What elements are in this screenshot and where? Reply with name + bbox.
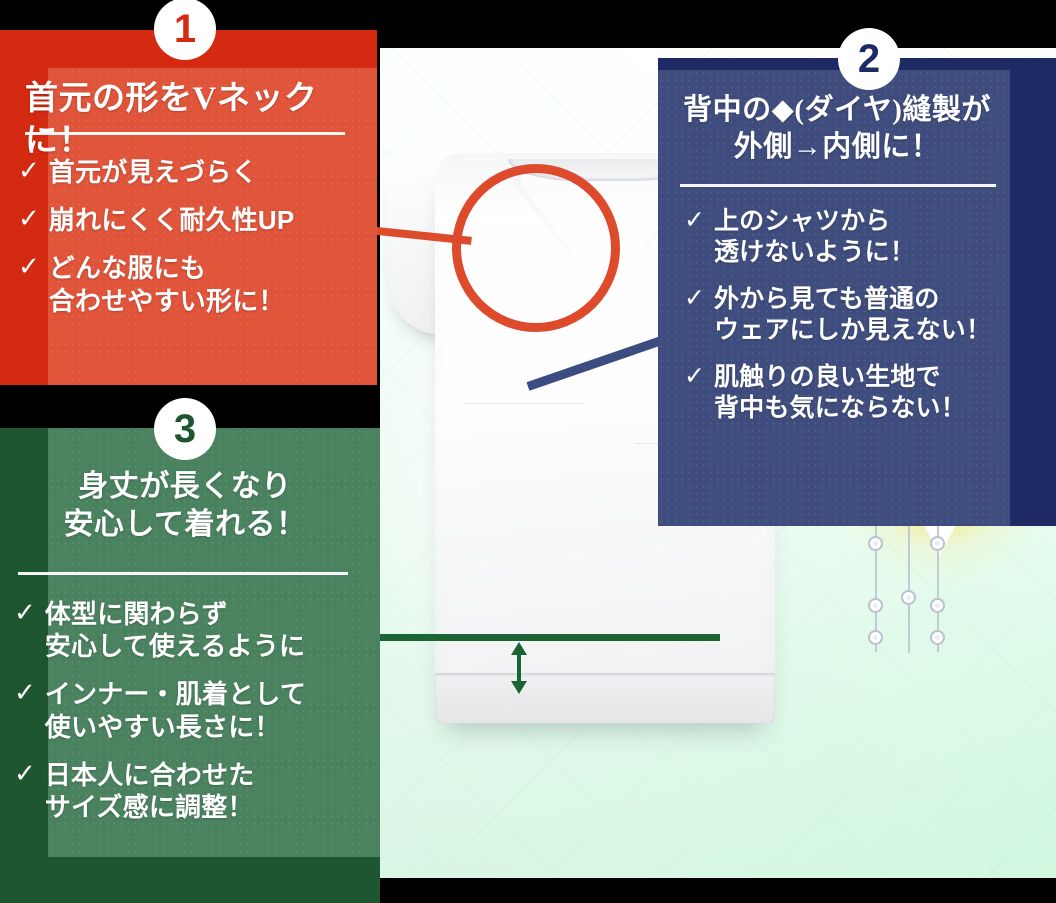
list-item-label: 日本人に合わせた サイズ感に調整！	[45, 759, 255, 823]
list-item: ✓ どんな服にも 合わせやすい形に！	[18, 252, 368, 316]
fabric-fold	[465, 403, 585, 404]
list-item-label: 肌触りの良い生地で 背中も気にならない！	[714, 362, 966, 424]
panel-3-number-badge: 3	[154, 398, 216, 460]
panel-1-divider	[25, 132, 345, 135]
list-item: ✓ 日本人に合わせた サイズ感に調整！	[14, 759, 374, 823]
panel-2-number-badge: 2	[838, 28, 900, 90]
panel-1-title: 首元の形をVネックに！	[25, 78, 377, 162]
check-icon: ✓	[684, 362, 705, 390]
panel-2-benefit-list: ✓ 上のシャツから 透けないように！ ✓ 外から見ても普通の ウェアにしか見えな…	[684, 206, 1024, 440]
tshirt-hem	[435, 673, 775, 723]
list-item: ✓ 首元が見えづらく	[18, 156, 368, 188]
feature-panel-1: 1 首元の形をVネックに！ ✓ 首元が見えづらく ✓ 崩れにくく耐久性UP ✓ …	[0, 30, 377, 385]
list-item-label: 首元が見えづらく	[49, 156, 258, 188]
panel-3-divider	[18, 572, 348, 575]
panel-2-title: 背中の◆(ダイヤ)縫製が 外側→内側に！	[674, 92, 1000, 166]
feature-panel-2: 2 背中の◆(ダイヤ)縫製が 外側→内側に！ ✓ 上のシャツから 透けないように…	[658, 58, 1056, 526]
check-icon: ✓	[14, 598, 36, 627]
list-item: ✓ 上のシャツから 透けないように！	[684, 206, 1024, 268]
list-item-label: どんな服にも 合わせやすい形に！	[49, 252, 285, 316]
list-item-label: 体型に関わらず 安心して使えるように	[45, 598, 305, 662]
list-item: ✓ 肌触りの良い生地で 背中も気にならない！	[684, 362, 1024, 424]
check-icon: ✓	[684, 206, 705, 234]
panel-2-divider	[680, 184, 996, 187]
list-item-label: インナー・肌着として 使いやすい長さに！	[45, 678, 306, 742]
list-item: ✓ 崩れにくく耐久性UP	[18, 204, 368, 236]
neck-highlight-circle	[452, 164, 620, 332]
list-item: ✓ 体型に関わらず 安心して使えるように	[14, 598, 374, 662]
check-icon: ✓	[684, 284, 705, 312]
list-item-label: 上のシャツから 透けないように！	[714, 206, 915, 268]
list-item-label: 外から見ても普通の ウェアにしか見えない！	[714, 284, 991, 346]
panel-1-number-badge: 1	[154, 0, 216, 60]
check-icon: ✓	[18, 252, 40, 281]
list-item-label: 崩れにくく耐久性UP	[49, 204, 295, 236]
panel-3-title: 身丈が長くなり 安心して着れる！	[20, 468, 350, 545]
check-icon: ✓	[18, 156, 40, 185]
list-item: ✓ 外から見ても普通の ウェアにしか見えない！	[684, 284, 1024, 346]
panel-1-benefit-list: ✓ 首元が見えづらく ✓ 崩れにくく耐久性UP ✓ どんな服にも 合わせやすい形…	[18, 156, 368, 333]
panel-3-benefit-list: ✓ 体型に関わらず 安心して使えるように ✓ インナー・肌着として 使いやすい長…	[14, 598, 374, 839]
check-icon: ✓	[18, 204, 40, 233]
check-icon: ✓	[14, 759, 36, 788]
hem-length-reference-line	[380, 634, 720, 641]
list-item: ✓ インナー・肌着として 使いやすい長さに！	[14, 678, 374, 742]
feature-panel-3: 3 身丈が長くなり 安心して着れる！ ✓ 体型に関わらず 安心して使えるように …	[0, 428, 380, 903]
length-extension-arrow	[508, 642, 530, 694]
check-icon: ✓	[14, 678, 36, 707]
